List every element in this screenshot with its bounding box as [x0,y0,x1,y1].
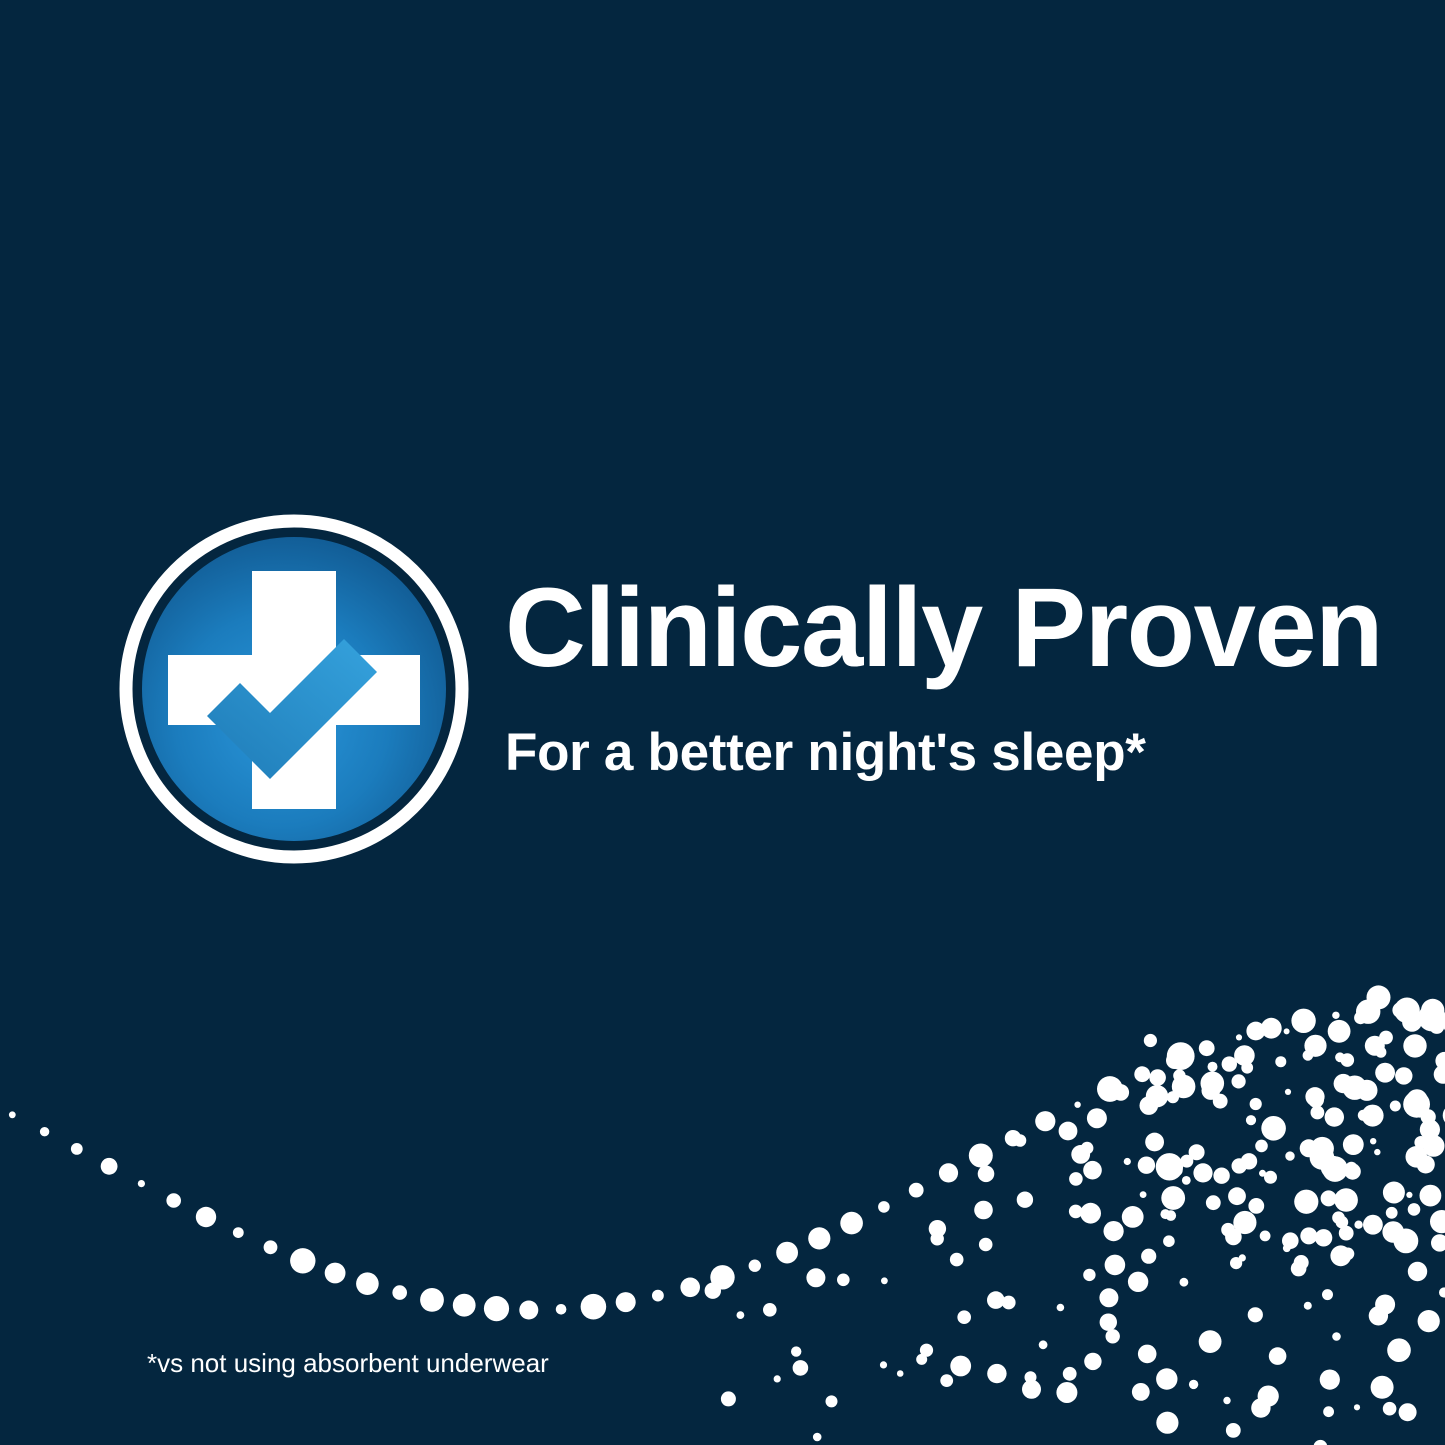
wave-dot [1275,1056,1286,1067]
wave-dot [1362,1105,1384,1127]
wave-dot [1291,1261,1307,1277]
wave-dot [1104,1221,1124,1241]
wave-dot [1354,1221,1362,1229]
wave-dot [1261,1018,1282,1039]
wave-dot [987,1364,1006,1383]
wave-dot [1223,1397,1230,1404]
wave-dot [420,1288,444,1312]
wave-dot [957,1310,971,1324]
wave-dot [1134,1066,1150,1082]
wave-dot [1208,1062,1218,1072]
wave-dot [1206,1195,1221,1210]
wave-dot [233,1227,244,1238]
wave-dot [138,1180,145,1187]
wave-dot [737,1311,745,1319]
wave-dot [1166,1052,1183,1069]
wave-dot [1363,1215,1383,1235]
wave-dot [939,1163,958,1182]
wave-dot [1315,1229,1332,1246]
wave-dot [1269,1128,1281,1140]
wave-dot [1236,1034,1242,1040]
wave-dot [1434,1065,1445,1084]
wave-dot [1005,1130,1021,1146]
wave-dot [1241,1062,1253,1074]
wave-dot [920,1344,933,1357]
wave-dot [1255,1140,1268,1153]
wave-dot [1097,1076,1123,1102]
wave-dot [1367,985,1391,1009]
wave-dot [721,1391,736,1406]
wave-dot [1069,1172,1083,1186]
wave-dot [1035,1111,1055,1131]
wave-dot [969,1144,993,1168]
wave-dot [1284,1028,1290,1034]
wave-dot [1406,1089,1427,1110]
wave-dot [1022,1380,1041,1399]
wave-dot [1099,1288,1118,1307]
wave-dot [774,1375,781,1382]
wave-dot [1156,1153,1183,1180]
wave-dot [1141,1249,1156,1264]
wave-dot [1232,1074,1246,1088]
wave-dot [1251,1398,1270,1417]
wave-dot [1161,1186,1185,1210]
wave-dot [880,1361,887,1368]
wave-dot [1375,1295,1395,1315]
wave-dot [1014,1134,1027,1147]
wave-dot [1423,1135,1445,1157]
wave-dot [1325,1107,1344,1126]
clinically-proven-badge-icon [118,513,470,865]
wave-dot [1322,1156,1348,1182]
wave-dot [1283,1244,1291,1252]
wave-dot [1189,1380,1198,1389]
wave-dot [1402,1012,1422,1032]
wave-dot [1261,1116,1286,1141]
wave-dot [1294,1255,1309,1270]
wave-dot [1087,1108,1107,1128]
wave-dot [1156,1412,1178,1434]
wave-dot [1285,1089,1291,1095]
wave-dot [1356,1000,1380,1024]
wave-dot [897,1370,904,1377]
wave-dot [1105,1255,1126,1276]
wave-dot [1258,1386,1279,1407]
wave-dot [1394,1229,1419,1254]
wave-dot [1420,1120,1440,1140]
wave-dot [1383,1402,1397,1416]
wave-dot [484,1296,509,1321]
wave-dot [1057,1304,1065,1312]
wave-dot [1201,1072,1225,1096]
wave-dot [1339,1226,1354,1241]
wave-dot [916,1354,927,1365]
wave-dot [1341,1053,1355,1067]
wave-dot [1213,1168,1229,1184]
wave-dot [1403,1091,1430,1118]
wave-dot [1431,1234,1445,1251]
wave-dot [1421,1109,1436,1124]
wave-dot [1017,1192,1033,1208]
wave-dot [1330,1245,1351,1266]
wave-dot [1371,1376,1394,1399]
wave-dot [1408,1203,1421,1216]
wave-dot [1439,1287,1445,1297]
wave-dot [1213,1094,1228,1109]
wave-dot [1074,1102,1080,1108]
wave-dot [1193,1163,1212,1182]
wave-dot [1370,1138,1376,1144]
wave-dot [1025,1371,1037,1383]
wave-dot [1083,1269,1095,1281]
wave-dot [1128,1272,1148,1292]
wave-dot [556,1304,567,1315]
wave-dot [791,1346,801,1356]
wave-dot [878,1201,890,1213]
wave-dot [1180,1155,1193,1168]
wave-dot [808,1227,830,1249]
wave-dot [826,1395,838,1407]
wave-dot [1163,1235,1175,1247]
wave-dot [1232,1158,1247,1173]
wave-dot [1250,1098,1262,1110]
wave-dot [1146,1085,1168,1107]
wave-dot [1172,1075,1196,1099]
wave-dot [1002,1296,1016,1310]
wave-dot [1300,1139,1318,1157]
wave-dot [1383,1182,1405,1204]
wave-dot [1160,1209,1170,1219]
wave-dot [1083,1161,1102,1180]
wave-dot [950,1253,964,1267]
wave-dot [1304,1302,1312,1310]
wave-dot [1390,1101,1401,1112]
wave-dot [1375,1063,1395,1083]
wave-dot [71,1143,83,1155]
wave-dot [1394,998,1420,1024]
wave-dot [1230,1257,1242,1269]
wave-dot [1369,1306,1388,1325]
wave-dot [1241,1153,1257,1169]
wave-dot [1435,1052,1445,1070]
wave-dot [1310,1145,1335,1170]
page-title: Clinically Proven [505,572,1405,684]
wave-dot [1269,1347,1287,1365]
wave-dot [1167,1042,1195,1070]
wave-dot [1345,1162,1357,1174]
wave-dot [1320,1370,1340,1390]
wave-dot [1417,1155,1435,1173]
wave-dot [837,1274,850,1287]
wave-dot [1138,1157,1155,1174]
page-subtitle: For a better night's sleep* [505,684,1405,779]
wave-dot [1406,1192,1412,1198]
wave-dot [1334,1188,1358,1212]
footnote-disclaimer: *vs not using absorbent underwear [147,1348,549,1379]
wave-dot [1332,1211,1345,1224]
wave-dot [1414,1136,1427,1149]
wave-dot [1173,1069,1185,1081]
wave-dot [1124,1158,1131,1165]
wave-dot [1084,1353,1101,1370]
wave-dot [749,1260,761,1272]
wave-dot [1358,1110,1369,1121]
wave-dot [1420,1185,1442,1207]
wave-dot [1339,1076,1346,1083]
wave-dot [264,1240,278,1254]
wave-dot [1311,1106,1325,1120]
wave-dot [1166,1210,1177,1221]
wave-dot [1221,1223,1235,1237]
wave-dot [1069,1205,1083,1219]
wave-dot [1291,1009,1315,1033]
wave-dot [763,1303,777,1317]
wave-dot [1264,1171,1277,1184]
wave-dot [1311,1137,1334,1160]
wave-dot [1171,1164,1183,1176]
wave-dot [1301,1203,1312,1214]
wave-dot [1342,1248,1355,1261]
wave-dot [1421,999,1444,1022]
wave-dot [1140,1096,1159,1115]
wave-dot [1199,1330,1222,1353]
wave-dot [987,1291,1005,1309]
wave-dot [1354,1404,1360,1410]
wave-dot [931,1232,944,1245]
wave-dot [1321,1190,1337,1206]
wave-dot [680,1278,700,1298]
wave-dot [1059,1122,1078,1141]
wave-dot [1167,1091,1179,1103]
wave-dot [1248,1307,1263,1322]
wave-dot [1225,1229,1242,1246]
wave-dot [356,1272,379,1295]
wave-dot [705,1283,721,1299]
wave-dot [1234,1045,1255,1066]
wave-dot [1156,1368,1177,1389]
wave-dot [1056,1382,1077,1403]
wave-dot [290,1248,315,1273]
wave-dot [1305,1087,1324,1106]
wave-dot [1418,1310,1440,1332]
wave-dot [453,1294,476,1317]
wave-dot [979,1238,993,1252]
wave-dot [1106,1329,1120,1343]
wave-dot [1180,1278,1189,1287]
wave-dot [929,1220,946,1237]
wave-dot [1332,1012,1339,1019]
wave-dot [1314,1440,1328,1445]
wave-dot [652,1290,664,1302]
wave-dot [1113,1084,1130,1101]
wave-dot [1356,1080,1377,1101]
wave-dot [1239,1254,1246,1261]
wave-dot [1259,1170,1266,1177]
wave-dot [1228,1187,1246,1205]
wave-dot [1399,1403,1417,1421]
wave-dot [519,1301,538,1320]
wave-dot [1071,1145,1090,1164]
wave-dot [1343,1134,1364,1155]
wave-dot [1392,1002,1408,1018]
wave-dot [1374,1149,1380,1155]
wave-dot [1386,1207,1398,1219]
headline-block: Clinically Proven For a better night's s… [505,572,1405,779]
wave-dot [881,1277,888,1284]
wave-dot [1354,1011,1367,1024]
wave-dot [1246,1022,1265,1041]
wave-dot [1332,1332,1341,1341]
wave-dot [1233,1211,1256,1234]
wave-dot [1343,1076,1367,1100]
wave-dot [616,1292,636,1312]
wave-dot [1189,1144,1205,1160]
wave-dot [1382,1221,1404,1243]
wave-dot [1387,1338,1411,1362]
wave-dot [1145,1133,1164,1152]
wave-dot [806,1268,825,1287]
wave-dot [1081,1142,1094,1155]
wave-dot [1406,1146,1428,1168]
wave-dot [1285,1151,1294,1160]
wave-dot [1222,1056,1237,1071]
wave-dot [581,1294,607,1320]
wave-dot [1408,1262,1427,1281]
promo-banner: Clinically Proven For a better night's s… [0,0,1445,1445]
wave-dot [1336,1216,1349,1229]
wave-dot [166,1193,181,1208]
wave-dot [974,1201,993,1220]
wave-dot [1321,1156,1344,1179]
wave-dot [325,1263,346,1284]
wave-dot [1322,1289,1333,1300]
wave-dot [940,1374,953,1387]
wave-dot [1226,1423,1241,1438]
wave-dot [1138,1345,1157,1364]
wave-dot [1100,1314,1117,1331]
wave-dot [1122,1206,1144,1228]
wave-dot [1199,1040,1215,1056]
wave-dot [1308,1092,1324,1108]
wave-dot [1202,1081,1221,1100]
wave-dot [392,1285,407,1300]
wave-dot [1365,1036,1385,1056]
wave-dot [1182,1176,1191,1185]
wave-dot [1300,1227,1317,1244]
wave-dot [1418,1004,1445,1032]
wave-dot [1323,1406,1334,1417]
wave-dot [1149,1069,1166,1086]
wave-dot [1132,1383,1150,1401]
wave-dot [978,1166,995,1183]
wave-dot [1294,1190,1318,1214]
wave-dot [1334,1074,1353,1093]
wave-dot [909,1183,924,1198]
wave-dot [9,1111,16,1118]
wave-dot [1304,1035,1326,1057]
wave-dot [710,1265,734,1289]
wave-dot [1063,1367,1077,1381]
wave-dot [1260,1231,1271,1242]
wave-dot [1303,1050,1314,1061]
wave-dot [1395,1067,1412,1084]
wave-dot [1248,1198,1264,1214]
wave-dot [1403,1034,1426,1057]
wave-dot [1144,1034,1157,1047]
wave-dot [1344,1163,1360,1179]
wave-dot [1328,1020,1351,1043]
wave-dot [1429,1019,1444,1034]
wave-dot [1375,1047,1386,1058]
wave-dot [101,1158,118,1175]
wave-dot [1140,1191,1147,1198]
wave-dot [813,1433,822,1442]
wave-dot [1379,1031,1393,1045]
wave-dot [1430,1210,1445,1233]
wave-dot [840,1212,863,1235]
wave-dot [793,1360,809,1376]
wave-dot [1282,1232,1299,1249]
wave-dot [1246,1115,1256,1125]
wave-dot [776,1242,798,1264]
wave-dot [40,1127,49,1136]
wave-dot [1410,1099,1429,1118]
wave-dot [1039,1340,1048,1349]
wave-dot [196,1207,216,1227]
wave-dot [1335,1052,1345,1062]
wave-dot [1080,1203,1101,1224]
wave-dot [950,1356,971,1377]
